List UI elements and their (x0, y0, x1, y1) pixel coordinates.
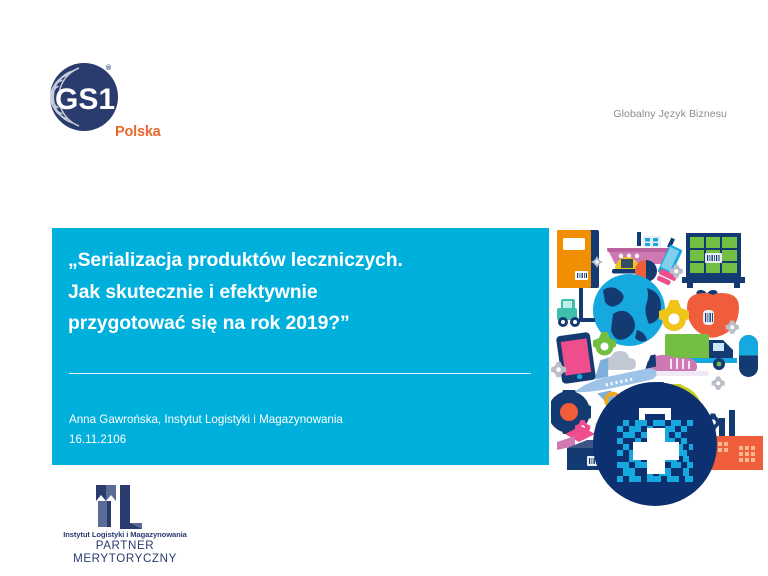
slide-tagline: Globalny Język Biznesu (613, 108, 727, 120)
forklift-icon (557, 288, 595, 327)
pill-capsule-icon (739, 335, 758, 377)
ilim-institute-name: Instytut Logistyki i Magazynowania (44, 530, 206, 539)
title-divider (69, 373, 531, 374)
ilim-partner-logo: Instytut Logistyki i Magazynowania PARTN… (44, 483, 206, 555)
cargo-ship-icon (607, 232, 669, 264)
author-block: Anna Gawrońska, Instytut Logistyki i Mag… (69, 410, 534, 449)
gs1-wordmark: GS1 (55, 83, 115, 116)
author-name: Anna Gawrońska, Instytut Logistyki i Mag… (69, 410, 534, 430)
ilim-monogram-icon (90, 483, 144, 531)
gs1-logo-subtitle: Polska (115, 124, 161, 140)
pallet-crate-icon (682, 233, 745, 288)
gear-icon (595, 260, 598, 263)
presentation-date: 16.11.2106 (69, 430, 534, 450)
gs1-logo-circle-icon: GS1 (49, 62, 119, 132)
registered-trademark-icon: ® (106, 65, 111, 72)
supply-chain-icon-collage (551, 222, 768, 518)
gs1-polska-logo: GS1 ® Polska (49, 62, 179, 147)
slide-title: „Serializacja produktów leczniczych. Jak… (68, 245, 533, 340)
title-line-3: przygotować się na rok 2019?” (68, 308, 533, 340)
title-panel: „Serializacja produktów leczniczych. Jak… (52, 228, 549, 465)
book-icon (557, 230, 599, 288)
medical-briefcase-datamatrix-icon (593, 382, 717, 506)
title-line-2: Jak skutecznie i efektywnie (68, 277, 533, 309)
title-line-1: „Serializacja produktów leczniczych. (68, 245, 533, 277)
presentation-slide: GS1 ® Polska Globalny Język Biznesu „Ser… (0, 0, 768, 576)
tablet-icon (556, 332, 596, 384)
ilim-partner-role: PARTNER MERYTORYCZNY (44, 539, 206, 565)
